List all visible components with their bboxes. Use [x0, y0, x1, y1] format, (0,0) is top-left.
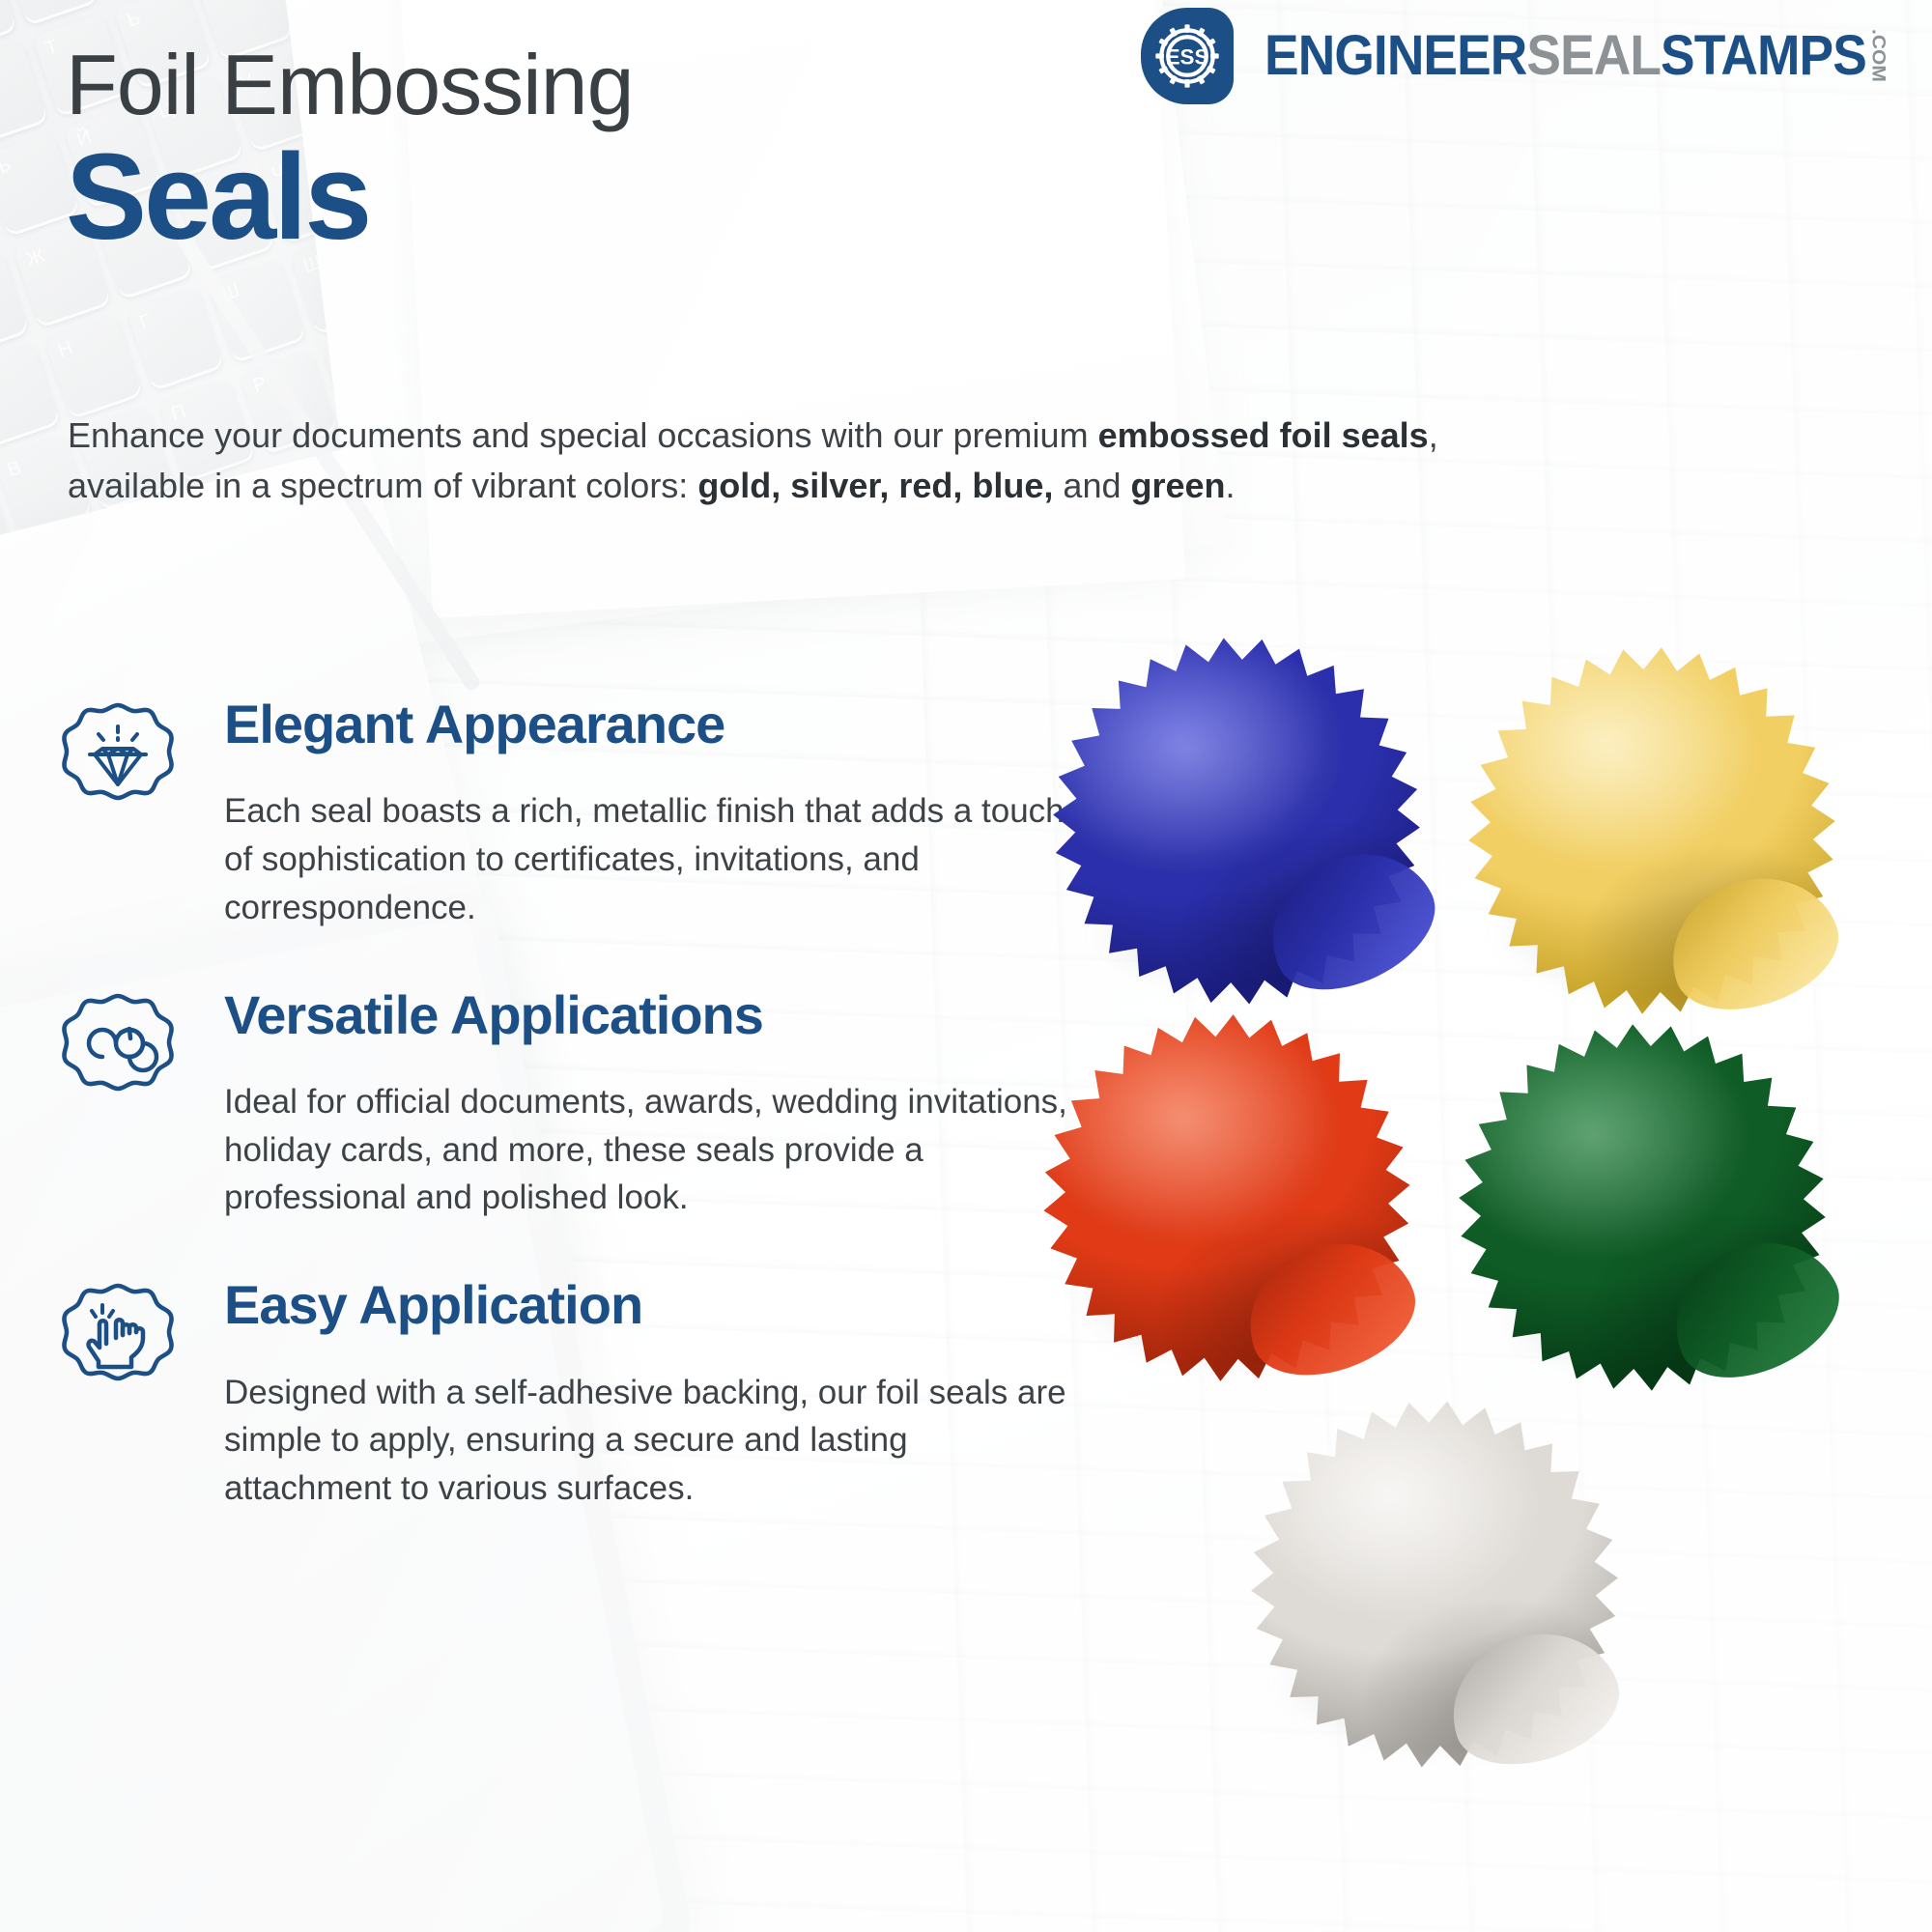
foil-seal-blue[interactable] — [1040, 625, 1433, 1017]
intro-bold-1: embossed foil seals — [1098, 415, 1429, 455]
intro-bold-3: green — [1131, 466, 1226, 505]
foil-seal-red[interactable] — [1037, 1008, 1416, 1387]
brand-wordmark: ENGINEER SEAL STAMPS .COM — [1264, 28, 1888, 84]
feature-item-versatile-applications: Versatile Applications Ideal for officia… — [60, 986, 1084, 1223]
headline-line-2: Seals — [66, 133, 634, 261]
intro-text-1: Enhance your documents and special occas… — [68, 415, 1098, 455]
feature-body: Each seal boasts a rich, metallic finish… — [224, 787, 1084, 931]
foil-seal-gallery — [1053, 638, 1922, 1874]
feature-title: Versatile Applications — [224, 986, 1084, 1044]
intro-text-4: . — [1226, 466, 1236, 505]
foil-seal-green[interactable] — [1449, 1014, 1834, 1400]
feature-item-elegant-appearance: Elegant Appearance Each seal boasts a ri… — [60, 696, 1084, 932]
feature-body: Designed with a self-adhesive backing, o… — [224, 1369, 1084, 1513]
diamond-sparkle-icon — [60, 699, 176, 815]
feature-title: Elegant Appearance — [224, 696, 1084, 753]
tap-hand-icon — [60, 1280, 176, 1396]
feature-list: Elegant Appearance Each seal boasts a ri… — [60, 696, 1084, 1567]
infographic-canvas: ФЫВАПРОЛДЖЭЯЧСМИТЬБЮКЕНГШЩЗХЪЙЦУФЫВАПРОЛ… — [0, 0, 1932, 1932]
feature-body: Ideal for official documents, awards, we… — [224, 1078, 1084, 1222]
headline-line-1: Foil Embossing — [66, 43, 634, 128]
page-title: Foil Embossing Seals — [66, 43, 634, 261]
wordmark-stamps: STAMPS — [1661, 28, 1866, 84]
intro-bold-2: gold, silver, red, blue, — [697, 466, 1053, 505]
feature-item-easy-application: Easy Application Designed with a self-ad… — [60, 1276, 1084, 1513]
brand-logo[interactable]: ESS ENGINEER SEAL STAMPS .COM — [1141, 8, 1915, 104]
intro-paragraph: Enhance your documents and special occas… — [68, 411, 1439, 511]
infinity-arrow-icon — [60, 990, 176, 1106]
foil-seal-silver[interactable] — [1238, 1388, 1631, 1780]
wordmark-seal: SEAL — [1526, 28, 1661, 84]
intro-text-3: and — [1053, 466, 1130, 505]
wordmark-engineer: ENGINEER — [1264, 28, 1526, 84]
ess-mark-text: ESS — [1166, 45, 1209, 70]
foil-seal-gold[interactable] — [1459, 638, 1844, 1023]
ess-gear-badge-icon: ESS — [1141, 8, 1234, 104]
feature-title: Easy Application — [224, 1276, 1084, 1334]
wordmark-tld: .COM — [1869, 29, 1888, 82]
